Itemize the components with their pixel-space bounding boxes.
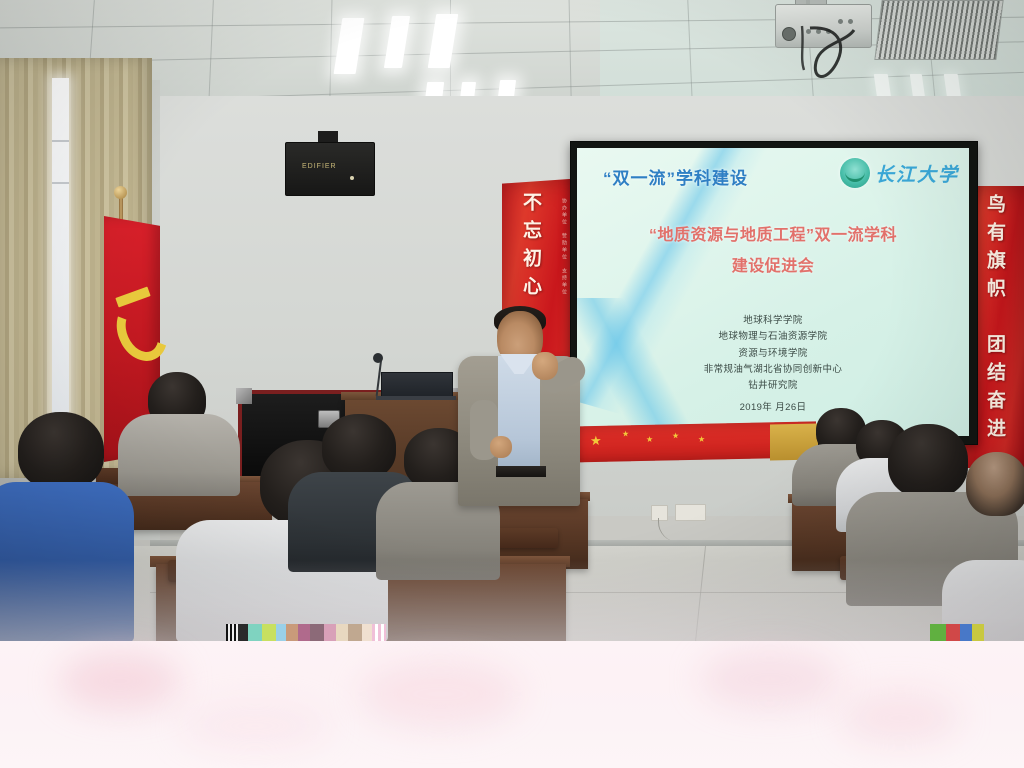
yangtze-university-emblem-icon	[840, 158, 870, 188]
artifact-block	[276, 624, 286, 642]
slide-org-0: 地球科学学院	[577, 313, 969, 329]
presenter-left-hand	[490, 436, 512, 458]
slide-logo-text: 长江大学	[875, 160, 959, 187]
slide-org-2: 资源与环境学院	[577, 346, 969, 362]
attendee-right-bald-head	[966, 452, 1024, 516]
artifact-block	[238, 624, 248, 642]
artifact-block	[972, 624, 984, 642]
photo-valid-region: EDIFIER 不忘初心 协办单位 赞助单位 支持单位 鸟有旗帜 团结奋进 协办…	[0, 0, 1024, 641]
artifact-block	[336, 624, 348, 642]
artifact-block	[226, 624, 238, 642]
wash-blotch	[360, 659, 520, 729]
slide-date: 2019年 月26日	[577, 400, 969, 416]
wash-blotch	[700, 649, 840, 709]
artifact-block	[298, 624, 310, 642]
attendee-grey-sweater-head	[888, 424, 968, 498]
presenter-belt	[496, 466, 546, 477]
attendee-blue-jacket-body	[0, 482, 134, 641]
artifact-block	[362, 624, 372, 642]
artifact-block	[248, 624, 262, 642]
artifact-block	[286, 624, 298, 642]
slide-org-1: 地球物理与石油资源学院	[577, 329, 969, 345]
banner-right-text-lower: 团结奋进	[982, 334, 1009, 446]
artifact-block	[262, 624, 276, 642]
artifact-block	[372, 624, 386, 642]
wash-blotch	[180, 701, 330, 751]
artifact-block	[960, 624, 972, 642]
attendee-back-left-body	[118, 414, 240, 496]
slide-title-line-1: “地质资源与地质工程”双一流学科	[577, 220, 969, 251]
slide-organization-list: 地球科学学院 地球物理与石油资源学院 资源与环境学院 非常规油气湖北省协同创新中…	[577, 313, 969, 416]
artifact-block	[324, 624, 336, 642]
artifact-block	[930, 624, 946, 642]
slide-org-4: 钻井研究院	[577, 378, 969, 394]
slide-title-line-2: 建设促进会	[577, 251, 969, 282]
slide-logo: 长江大学	[840, 158, 959, 188]
wash-blotch	[60, 651, 180, 711]
outlet-cable	[658, 518, 689, 542]
attendee-blue-jacket-head	[18, 412, 104, 490]
window-light-gap	[52, 78, 69, 468]
gooseneck-microphone-icon	[373, 353, 383, 363]
presentation-slide: “双一流”学科建设 长江大学 “地质资源与地质工程”双一流学科 建设促进会 地球…	[577, 148, 969, 436]
artifact-block	[310, 624, 324, 642]
artifact-block	[946, 624, 960, 642]
banner-right-text-upper: 鸟有旗帜	[982, 194, 1009, 306]
flag-finial	[114, 186, 127, 199]
artifact-block	[348, 624, 362, 642]
slide-title: “地质资源与地质工程”双一流学科 建设促进会	[577, 220, 969, 282]
conference-room-photo: EDIFIER 不忘初心 协办单位 赞助单位 支持单位 鸟有旗帜 团结奋进 协办…	[0, 0, 1024, 768]
slide-header: “双一流”学科建设	[603, 164, 748, 189]
speaker-led	[350, 176, 354, 180]
truncated-image-area	[0, 641, 1024, 768]
slide-org-3: 非常规油气湖北省协同创新中心	[577, 362, 969, 378]
jpeg-artifact-block-row	[0, 624, 1024, 642]
projector-cable	[790, 24, 910, 104]
presenter-right-hand	[532, 352, 558, 380]
speaker-brand-label: EDIFIER	[302, 163, 337, 170]
banner-left-text: 不忘初心	[518, 192, 545, 304]
attendee-dark-jacket-head	[322, 414, 396, 480]
laptop-base	[376, 396, 456, 400]
wash-blotch	[840, 691, 960, 745]
